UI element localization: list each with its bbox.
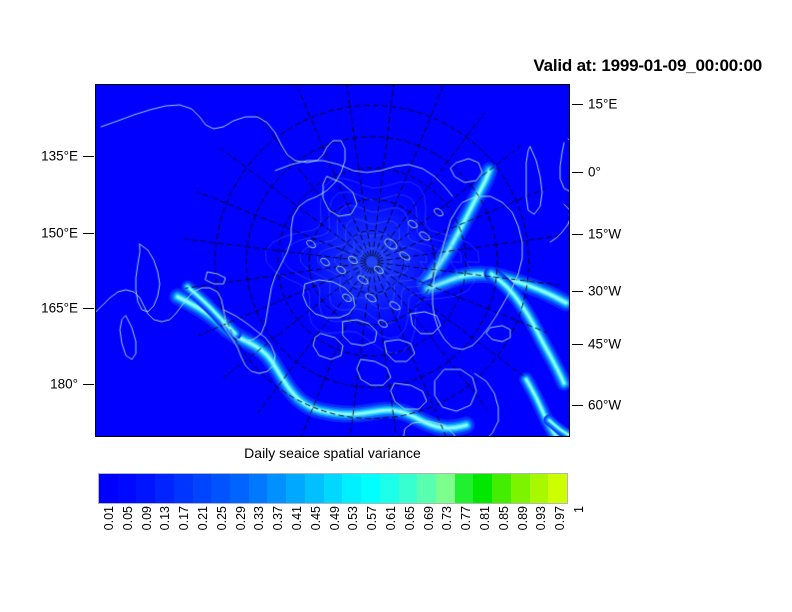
colorbar-tick-25: 1 xyxy=(573,506,586,513)
tick-label-right-2: 15°W xyxy=(588,227,621,241)
colorbar-band-14 xyxy=(361,474,380,503)
colorbar-band-6 xyxy=(211,474,230,503)
colorbar-tick-0: 0.01 xyxy=(103,506,116,530)
colorbar-band-17 xyxy=(417,474,436,503)
colorbar-band-9 xyxy=(267,474,286,503)
colorbar-band-16 xyxy=(399,474,418,503)
tick-label-right-3: 30°W xyxy=(588,284,621,298)
colorbar-band-2 xyxy=(136,474,155,503)
colorbar-tick-15: 0.61 xyxy=(385,506,398,530)
tick-label-right-1: 0° xyxy=(588,165,601,179)
colorbar-band-19 xyxy=(455,474,474,503)
tick-label-right-5: 60°W xyxy=(588,398,621,412)
colorbar-band-22 xyxy=(511,474,530,503)
colorbar-tick-21: 0.85 xyxy=(498,506,511,530)
colorbar-band-23 xyxy=(530,474,549,503)
colorbar-band-7 xyxy=(230,474,249,503)
tick-mark-left-2 xyxy=(83,308,94,309)
colorbar-tick-19: 0.77 xyxy=(460,506,473,530)
page-title: Valid at: 1999-01-09_00:00:00 xyxy=(0,56,762,76)
colorbar-band-4 xyxy=(174,474,193,503)
tick-mark-right-2 xyxy=(572,234,583,235)
colorbar-tick-13: 0.53 xyxy=(347,506,360,530)
tick-mark-right-3 xyxy=(572,291,583,292)
tick-label-left-1: 150°E xyxy=(0,226,78,240)
colorbar-tick-5: 0.21 xyxy=(197,506,210,530)
colorbar-tick-12: 0.49 xyxy=(329,506,342,530)
colorbar-tick-2: 0.09 xyxy=(141,506,154,530)
colorbar-tick-14: 0.57 xyxy=(366,506,379,530)
colorbar-tick-7: 0.29 xyxy=(235,506,248,530)
colorbar-tick-16: 0.65 xyxy=(404,506,417,530)
tick-label-left-2: 165°E xyxy=(0,301,78,315)
tick-label-right-4: 45°W xyxy=(588,337,621,351)
colorbar-band-20 xyxy=(473,474,492,503)
colorbar-band-3 xyxy=(155,474,174,503)
colorbar-band-11 xyxy=(305,474,324,503)
colorbar-tick-8: 0.33 xyxy=(253,506,266,530)
colorbar-band-13 xyxy=(342,474,361,503)
map-panel xyxy=(95,84,570,437)
colorbar-band-15 xyxy=(380,474,399,503)
tick-mark-left-3 xyxy=(83,384,94,385)
tick-mark-right-4 xyxy=(572,344,583,345)
colorbar-tick-6: 0.25 xyxy=(216,506,229,530)
colorbar-band-8 xyxy=(249,474,268,503)
colorbar-tick-11: 0.45 xyxy=(310,506,323,530)
colorbar-tick-3: 0.13 xyxy=(159,506,172,530)
colorbar-tick-10: 0.41 xyxy=(291,506,304,530)
tick-mark-right-5 xyxy=(572,405,583,406)
colorbar-tick-18: 0.73 xyxy=(441,506,454,530)
colorbar-band-1 xyxy=(118,474,137,503)
colorbar xyxy=(98,473,568,504)
tick-mark-left-1 xyxy=(83,233,94,234)
colorbar-band-24 xyxy=(548,474,567,503)
tick-label-right-0: 15°E xyxy=(588,97,617,111)
colorbar-band-0 xyxy=(99,474,118,503)
map-canvas xyxy=(96,85,569,436)
tick-mark-right-1 xyxy=(572,172,583,173)
colorbar-tick-24: 0.97 xyxy=(554,506,567,530)
colorbar-tick-labels: 0.010.050.090.130.170.210.250.290.330.37… xyxy=(98,506,568,566)
colorbar-tick-9: 0.37 xyxy=(272,506,285,530)
colorbar-band-5 xyxy=(193,474,212,503)
colorbar-band-18 xyxy=(436,474,455,503)
tick-mark-right-0 xyxy=(572,104,583,105)
tick-mark-left-0 xyxy=(83,156,94,157)
colorbar-tick-23: 0.93 xyxy=(535,506,548,530)
colorbar-band-10 xyxy=(286,474,305,503)
tick-label-left-3: 180° xyxy=(0,377,78,391)
colorbar-tick-22: 0.89 xyxy=(517,506,530,530)
tick-label-left-0: 135°E xyxy=(0,149,78,163)
colorbar-tick-20: 0.81 xyxy=(479,506,492,530)
colorbar-tick-4: 0.17 xyxy=(178,506,191,530)
colorbar-gradient xyxy=(98,473,568,504)
colorbar-band-21 xyxy=(492,474,511,503)
colorbar-band-12 xyxy=(324,474,343,503)
colorbar-caption: Daily seaice spatial variance xyxy=(95,445,570,461)
colorbar-tick-17: 0.69 xyxy=(423,506,436,530)
colorbar-tick-1: 0.05 xyxy=(122,506,135,530)
